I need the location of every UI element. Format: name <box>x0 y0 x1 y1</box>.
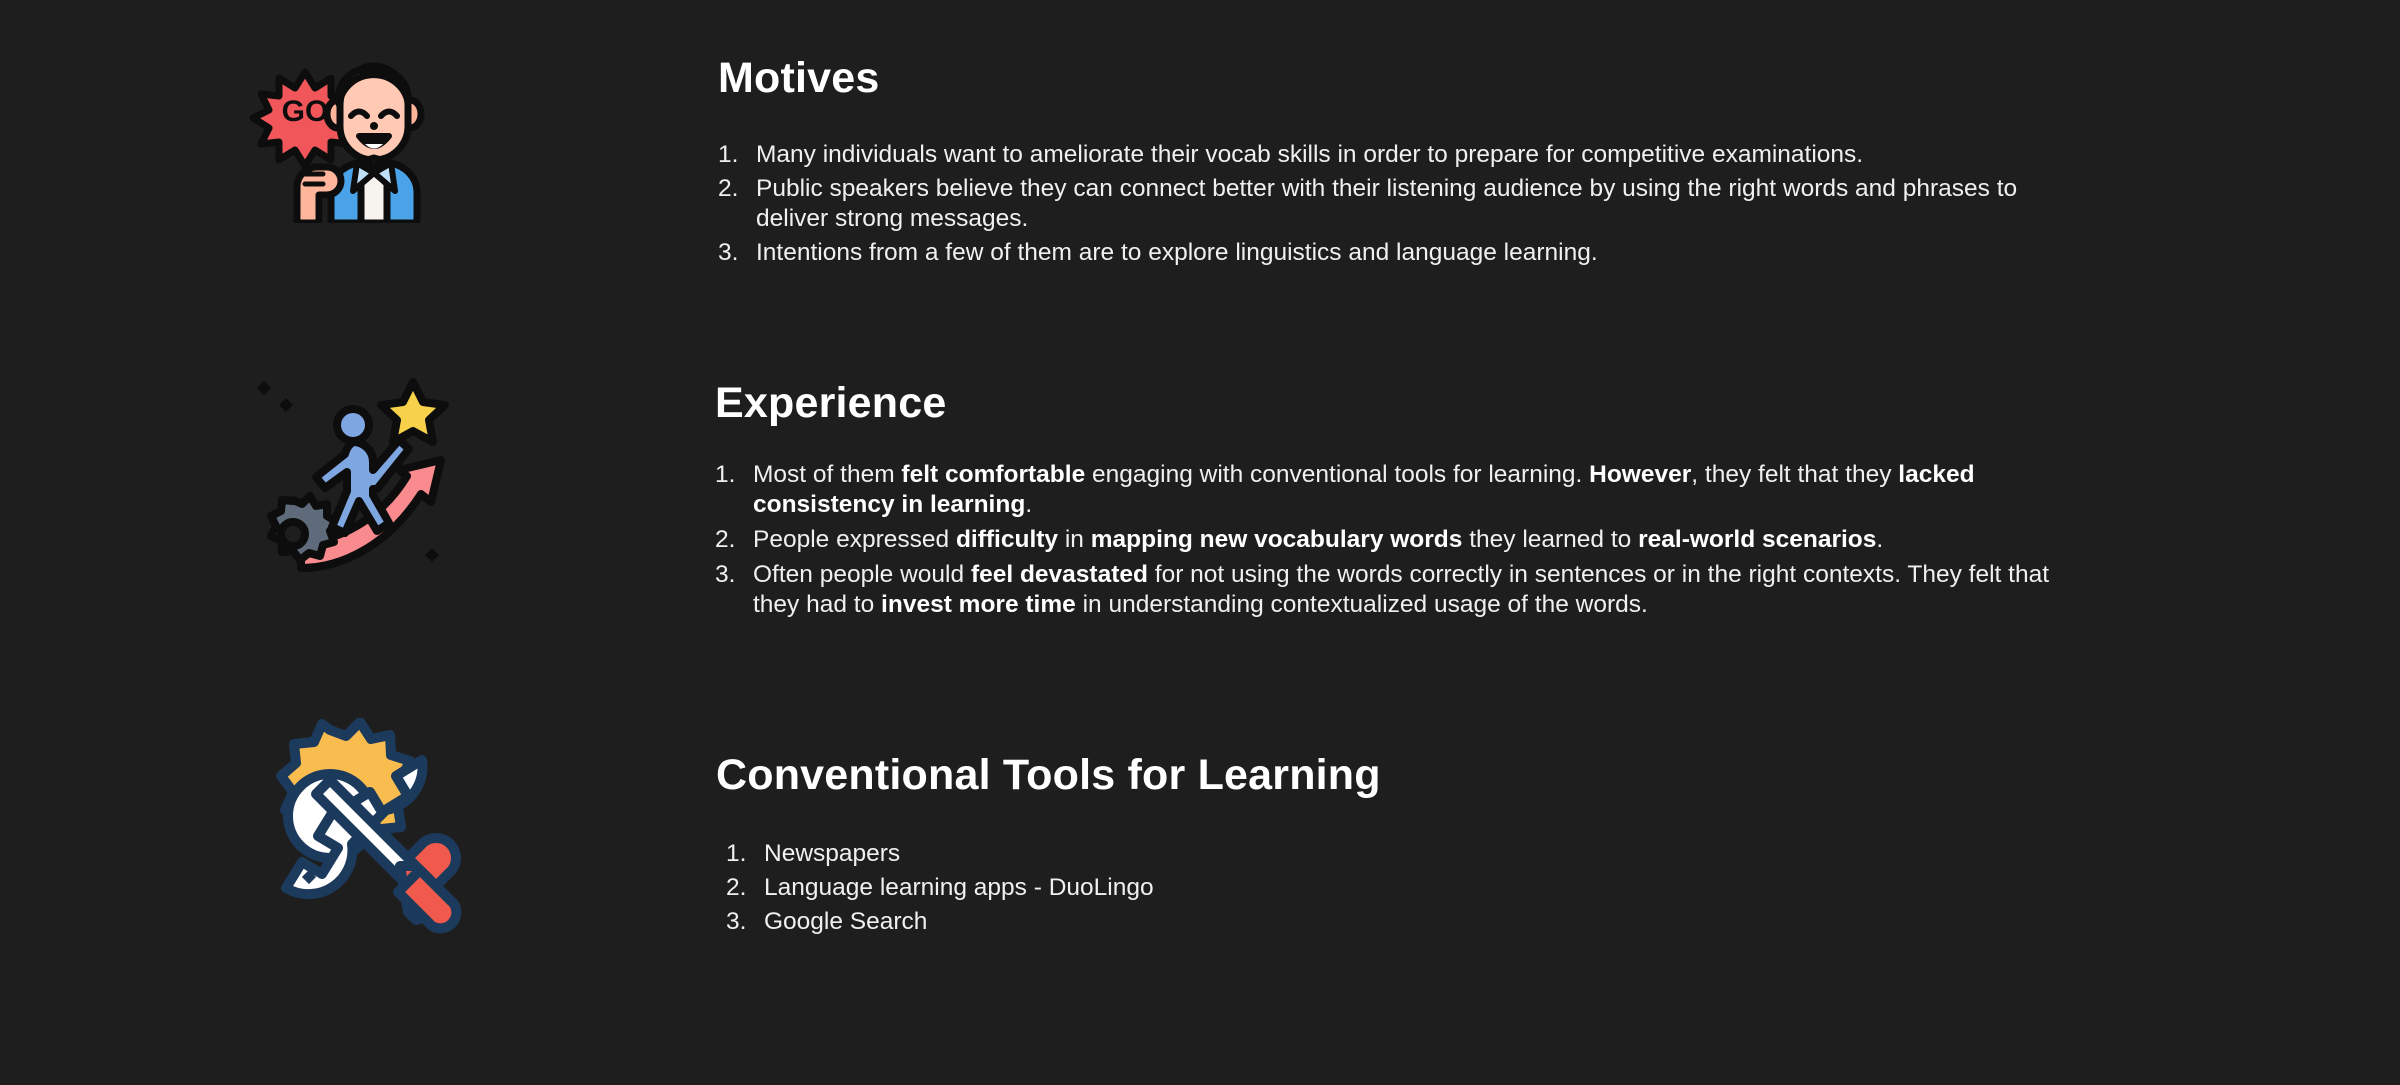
list-item: People expressed difficulty in mapping n… <box>715 525 2055 555</box>
section-heading-experience: Experience <box>715 380 2055 427</box>
list-item: Intentions from a few of them are to exp… <box>718 238 2038 268</box>
list-item: Language learning apps - DuoLingo <box>726 873 2036 903</box>
experience-list: Most of them felt comfortable engaging w… <box>715 460 2055 619</box>
tools-icon-container <box>200 718 500 958</box>
cheering-person-go-icon: GO <box>235 48 465 223</box>
section-heading-motives: Motives <box>718 55 2038 102</box>
motives-list: Many individuals want to ameliorate thei… <box>718 140 2038 268</box>
experience-text-column: Experience Most of them felt comfortable… <box>715 380 2055 625</box>
gear-wrench-screwdriver-tools-icon <box>230 718 470 958</box>
svg-text:GO: GO <box>282 95 329 128</box>
section-heading-conventional-tools: Conventional Tools for Learning <box>716 752 2036 799</box>
motives-text-column: Motives Many individuals want to amelior… <box>718 55 2038 272</box>
person-climbing-growth-arrow-icon <box>235 362 465 592</box>
list-item: Most of them felt comfortable engaging w… <box>715 460 2055 520</box>
experience-icon-container <box>200 362 500 592</box>
list-item: Often people would feel devastated for n… <box>715 560 2055 620</box>
list-item: Many individuals want to ameliorate thei… <box>718 140 2038 170</box>
list-item: Google Search <box>726 907 2036 937</box>
slide-canvas: GO <box>0 0 2400 1085</box>
tools-list: Newspapers Language learning apps - DuoL… <box>716 839 2036 937</box>
list-item: Public speakers believe they can connect… <box>718 174 2038 234</box>
motives-icon-container: GO <box>200 48 500 223</box>
tools-text-column: Conventional Tools for Learning Newspape… <box>716 752 2036 941</box>
list-item: Newspapers <box>726 839 2036 869</box>
